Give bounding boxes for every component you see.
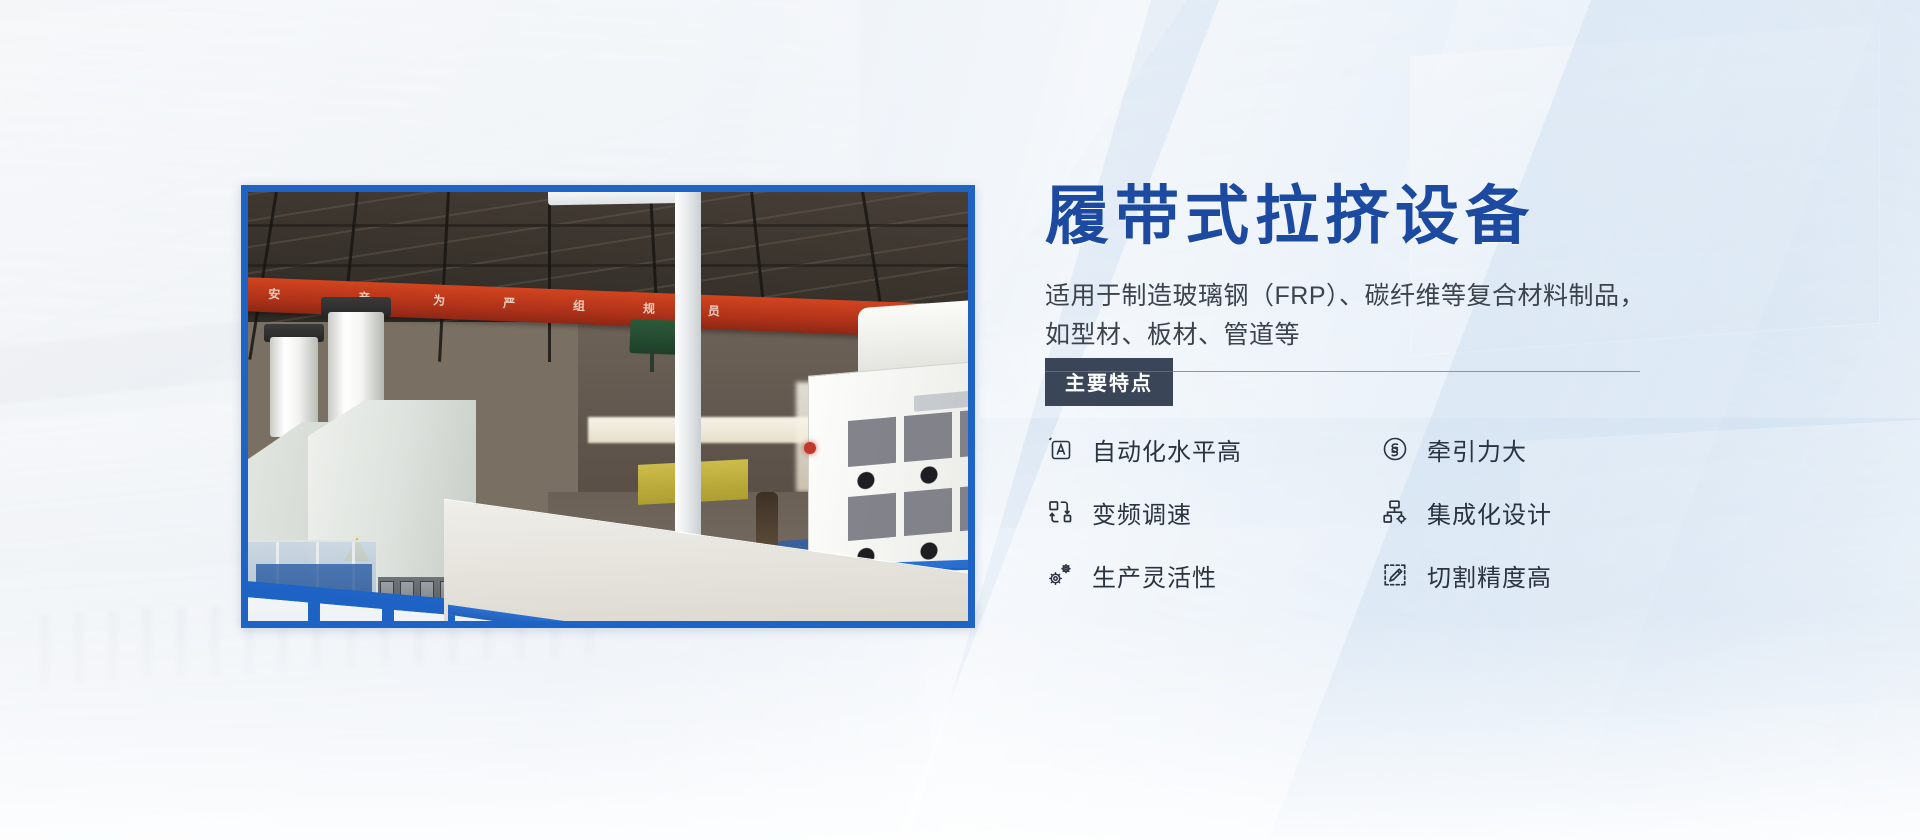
- frequency-nodes-icon: [1045, 497, 1075, 527]
- feature-label: 变频调速: [1092, 495, 1192, 530]
- traction-waves-circle-icon: [1380, 434, 1410, 464]
- page-title: 履带式拉挤设备: [1045, 182, 1685, 251]
- cutting-precision-pencil-icon: [1380, 560, 1410, 590]
- feature-item-automation: 自动化水平高: [1045, 432, 1380, 467]
- feature-item-cutting-precision: 切割精度高: [1380, 558, 1715, 593]
- feature-label: 生产灵活性: [1092, 558, 1217, 593]
- integrated-design-nodes-icon: [1380, 497, 1410, 527]
- feature-item-integrated-design: 集成化设计: [1380, 495, 1715, 530]
- divider: [1045, 371, 1640, 372]
- status-badge: 主要特点: [1045, 358, 1173, 406]
- product-photo: 安 产 为 严 组 规 员: [241, 185, 975, 628]
- feature-item-flexibility: 生产灵活性: [1045, 558, 1380, 593]
- photo-indicator-lamp: [804, 442, 816, 454]
- feature-item-traction: 牵引力大: [1380, 432, 1715, 467]
- feature-label: 自动化水平高: [1092, 432, 1242, 467]
- photo-worker: [756, 492, 778, 548]
- photo-crane-hook: [650, 350, 654, 372]
- banner-subtitle: 适用于制造玻璃钢（FRP）、碳纤维等复合材料制品，如型材、板材、管道等: [1045, 277, 1645, 355]
- feature-list: 自动化水平高 牵引力大: [1045, 432, 1685, 593]
- feature-label: 切割精度高: [1427, 558, 1552, 593]
- banner-content: 履带式拉挤设备 适用于制造玻璃钢（FRP）、碳纤维等复合材料制品，如型材、板材、…: [1045, 182, 1685, 593]
- automation-square-a-icon: [1045, 434, 1075, 464]
- feature-item-frequency: 变频调速: [1045, 495, 1380, 530]
- product-banner: 安 产 为 严 组 规 员: [0, 0, 1920, 840]
- badge-row: 主要特点: [1045, 358, 1685, 406]
- feature-label: 牵引力大: [1427, 432, 1527, 467]
- gears-flexibility-icon: [1045, 560, 1075, 590]
- feature-label: 集成化设计: [1427, 495, 1552, 530]
